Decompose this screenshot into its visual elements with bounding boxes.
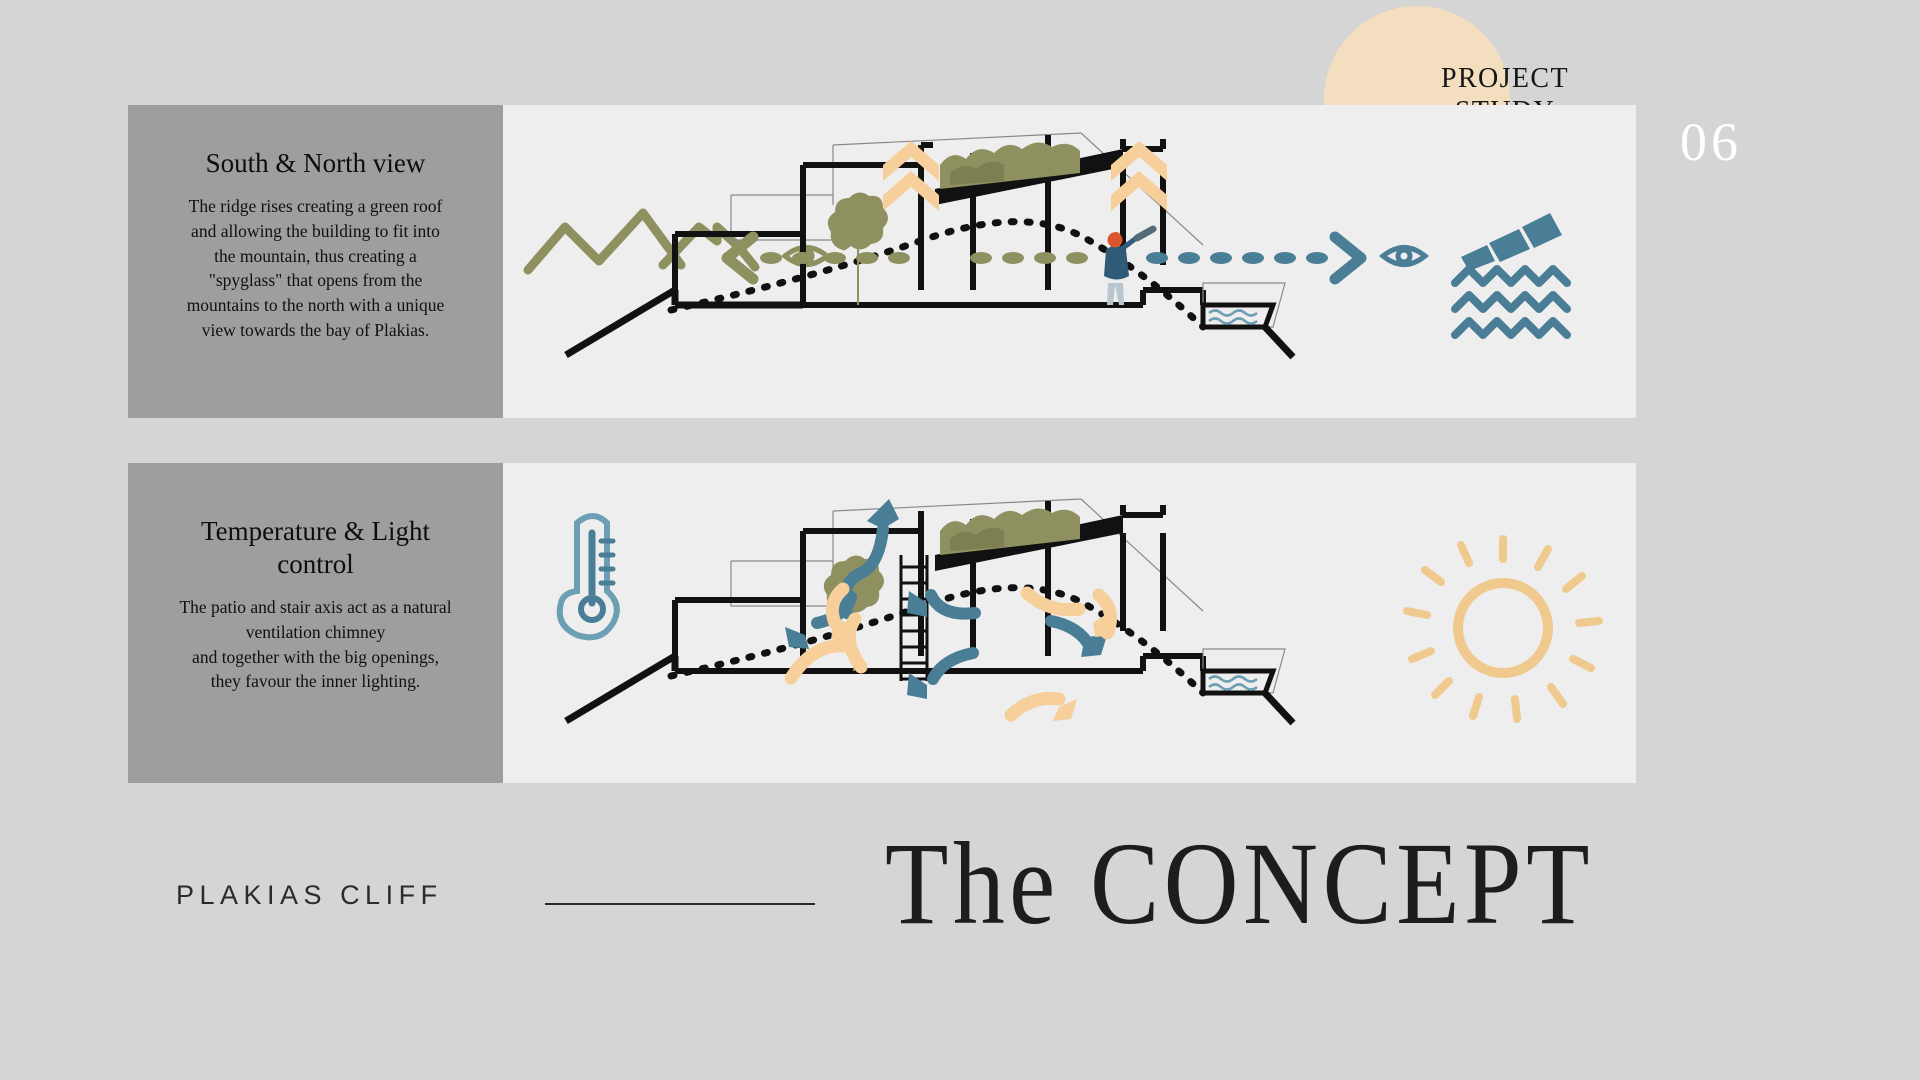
page-number: 06 [1680, 115, 1742, 169]
green-arrow-left [727, 237, 910, 279]
roof-overhang [1123, 505, 1163, 515]
slope-right [1265, 693, 1293, 723]
panel-temperature-light-control: Temperature & Light control The patio an… [128, 463, 1636, 783]
terrain-lines [566, 656, 675, 721]
panel-2-title: Temperature & Light control [201, 515, 430, 581]
terrain-lines [566, 290, 803, 355]
panel-1-text-block: South & North view The ridge rises creat… [128, 105, 503, 418]
section-diagram-temperature-light [503, 463, 1636, 783]
slide-title: The CONCEPT [885, 825, 1594, 943]
panel-1-title: South & North view [206, 147, 426, 180]
green-dash-run [970, 252, 1088, 264]
footer-brand: PLAKIAS CLIFF [176, 880, 443, 911]
green-roof [935, 142, 1123, 205]
right-wing [1123, 533, 1203, 671]
slope-right [1265, 327, 1293, 357]
mountains-icon [528, 213, 755, 270]
pool [1203, 649, 1285, 693]
tree [828, 192, 888, 305]
pool [1203, 283, 1285, 327]
panel-1-body: The ridge rises creating a green roof an… [187, 194, 445, 343]
green-roof [935, 508, 1123, 571]
section-diagram-south-north [503, 105, 1636, 418]
panel-2-body: The patio and stair axis act as a natura… [179, 595, 451, 694]
eye-icon [1383, 248, 1425, 265]
panel-2-text-block: Temperature & Light control The patio an… [128, 463, 503, 783]
blue-arrow-right [1146, 237, 1361, 279]
waves-icon [1455, 269, 1567, 335]
panel-1-figure [503, 105, 1636, 418]
sun-icon [1407, 539, 1599, 719]
telescope-icon [1461, 213, 1562, 271]
panel-2-figure [503, 463, 1636, 783]
slide-canvas: PROJECT STUDY 06 South & North view The … [0, 0, 1920, 1080]
footer-divider [545, 903, 815, 905]
panel-south-north-view: South & North view The ridge rises creat… [128, 105, 1636, 418]
thermometer-icon [560, 516, 617, 637]
